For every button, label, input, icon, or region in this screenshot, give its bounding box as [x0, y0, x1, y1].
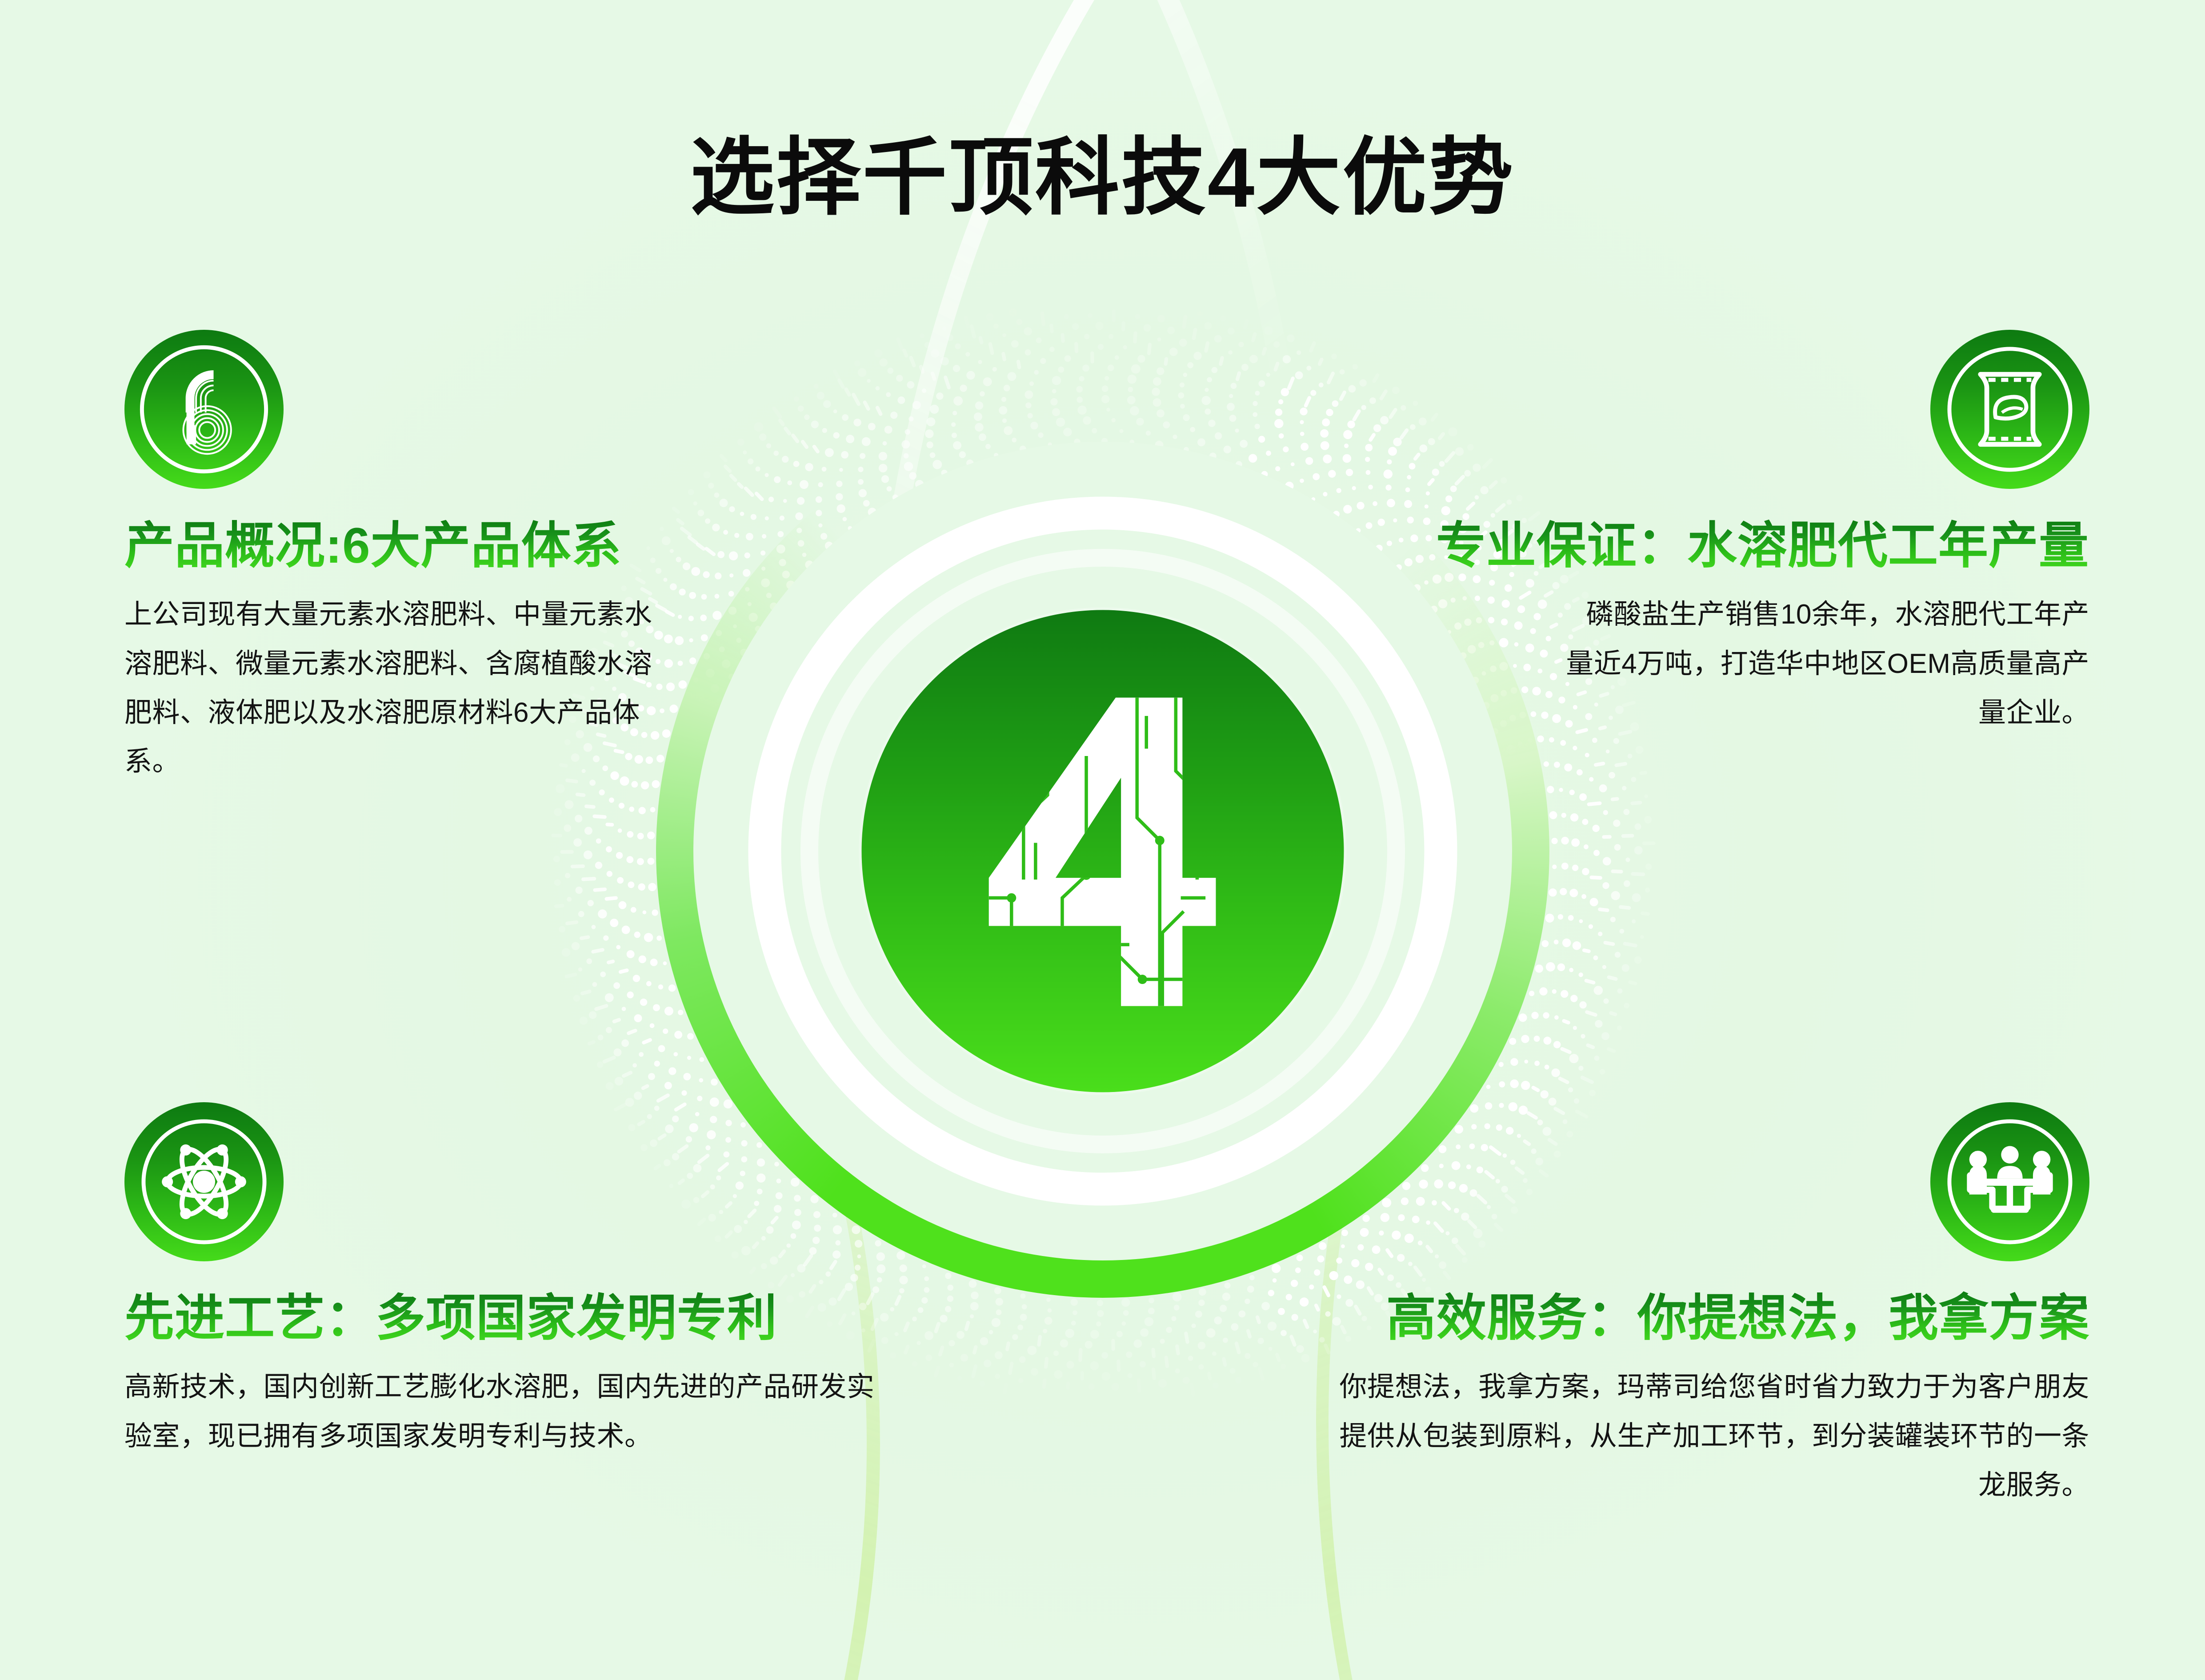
- numeral-four-glyph: [989, 697, 1216, 1006]
- advantage-card-bottom-left: 先进工艺：多项国家发明专利 高新技术，国内创新工艺膨化水溶肥，国内先进的产品研发…: [124, 1102, 907, 1461]
- advantage-body: 高新技术，国内创新工艺膨化水溶肥，国内先进的产品研发实验室，现已拥有多项国家发明…: [124, 1363, 880, 1461]
- advantage-heading: 先进工艺：多项国家发明专利: [124, 1289, 907, 1348]
- advantage-body: 磷酸盐生产销售10余年，水溶肥代工年产量近4万吨，打造华中地区OEM高质量高产量…: [1565, 590, 2089, 737]
- fertilizer-bag-icon: [1930, 330, 2089, 489]
- advantage-card-top-right: 专业保证：水溶肥代工年产量近4万吨 磷酸盐生产销售10余年，水溶肥代工年产量近4…: [1436, 330, 2089, 737]
- advantage-body: 你提想法，我拿方案，玛蒂司给您省时省力致力于为客户朋友提供从包装到原料，从生产加…: [1316, 1363, 2089, 1510]
- numeral-six-rings-icon: [124, 330, 284, 489]
- meeting-table-people-icon: [1930, 1102, 2089, 1261]
- page-title: 选择千顶科技4大优势: [0, 109, 2205, 231]
- center-number-disc: [861, 610, 1344, 1092]
- advantage-card-bottom-right: 高效服务：你提想法，我拿方案 你提想法，我拿方案，玛蒂司给您省时省力致力于为客户…: [1289, 1102, 2089, 1510]
- advantage-heading: 专业保证：水溶肥代工年产量近4万吨: [1436, 516, 2089, 575]
- advantage-body: 上公司现有大量元素水溶肥料、中量元素水溶肥料、微量元素水溶肥料、含腐植酸水溶肥料…: [124, 590, 667, 786]
- infographic-canvas: 产品概况:6大产品体系 上公司现有大量元素水溶肥料、中量元素水溶肥料、微量元素水…: [0, 0, 2205, 1680]
- advantage-heading: 高效服务：你提想法，我拿方案: [1289, 1289, 2089, 1348]
- advantage-card-top-left: 产品概况:6大产品体系 上公司现有大量元素水溶肥料、中量元素水溶肥料、微量元素水…: [124, 330, 729, 787]
- atom-icon: [124, 1102, 284, 1261]
- advantage-heading: 产品概况:6大产品体系: [124, 516, 729, 575]
